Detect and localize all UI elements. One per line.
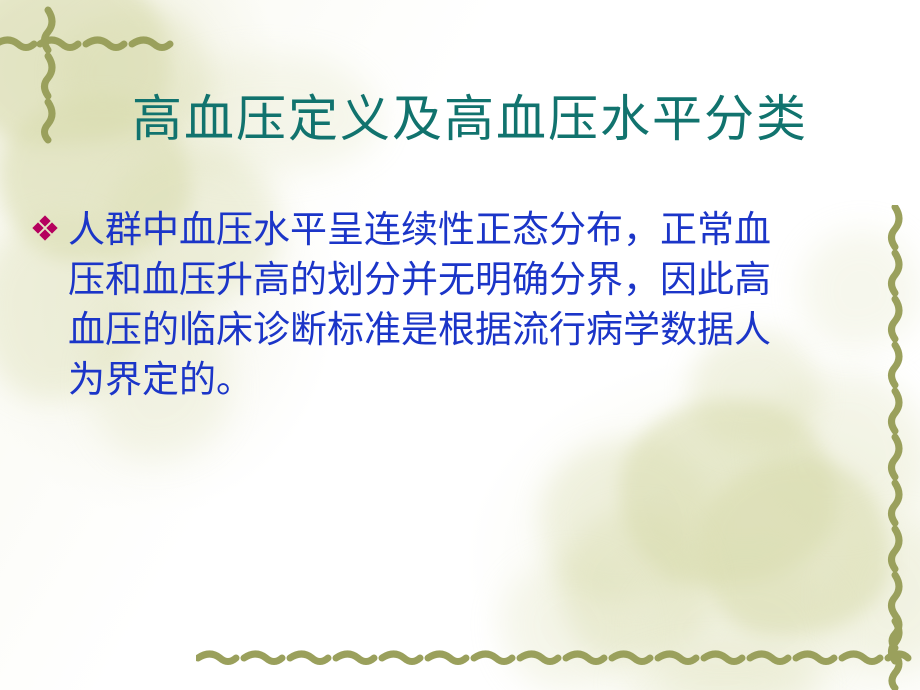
slide-title: 高血压定义及高血压水平分类 (60, 92, 880, 147)
bamboo-bottom-rule (196, 640, 920, 676)
bullet-line-2: 压和血压升高的划分并无明确分界，因此高 (68, 256, 890, 306)
bullet-line-1: 人群中血压水平呈连续性正态分布，正常血 (68, 206, 890, 256)
bullet-line-3: 血压的临床诊断标准是根据流行病学数据人 (68, 306, 890, 356)
bullet-line-4: 为界定的。 (68, 356, 890, 406)
bullet-text: 人群中血压水平呈连续性正态分布，正常血 压和血压升高的划分并无明确分界，因此高 … (68, 206, 890, 406)
bullet-marker (34, 206, 68, 217)
slide-canvas: 高血压定义及高血压水平分类 人群中血压水平呈连续性正态分布，正常血 压和血压升高… (0, 0, 920, 690)
bullet-item: 人群中血压水平呈连续性正态分布，正常血 压和血压升高的划分并无明确分界，因此高 … (34, 206, 890, 406)
bamboo-bottom-right-corner-ornament (876, 612, 916, 690)
bamboo-top-rule (0, 26, 200, 62)
slide-body: 人群中血压水平呈连续性正态分布，正常血 压和血压升高的划分并无明确分界，因此高 … (34, 206, 890, 406)
